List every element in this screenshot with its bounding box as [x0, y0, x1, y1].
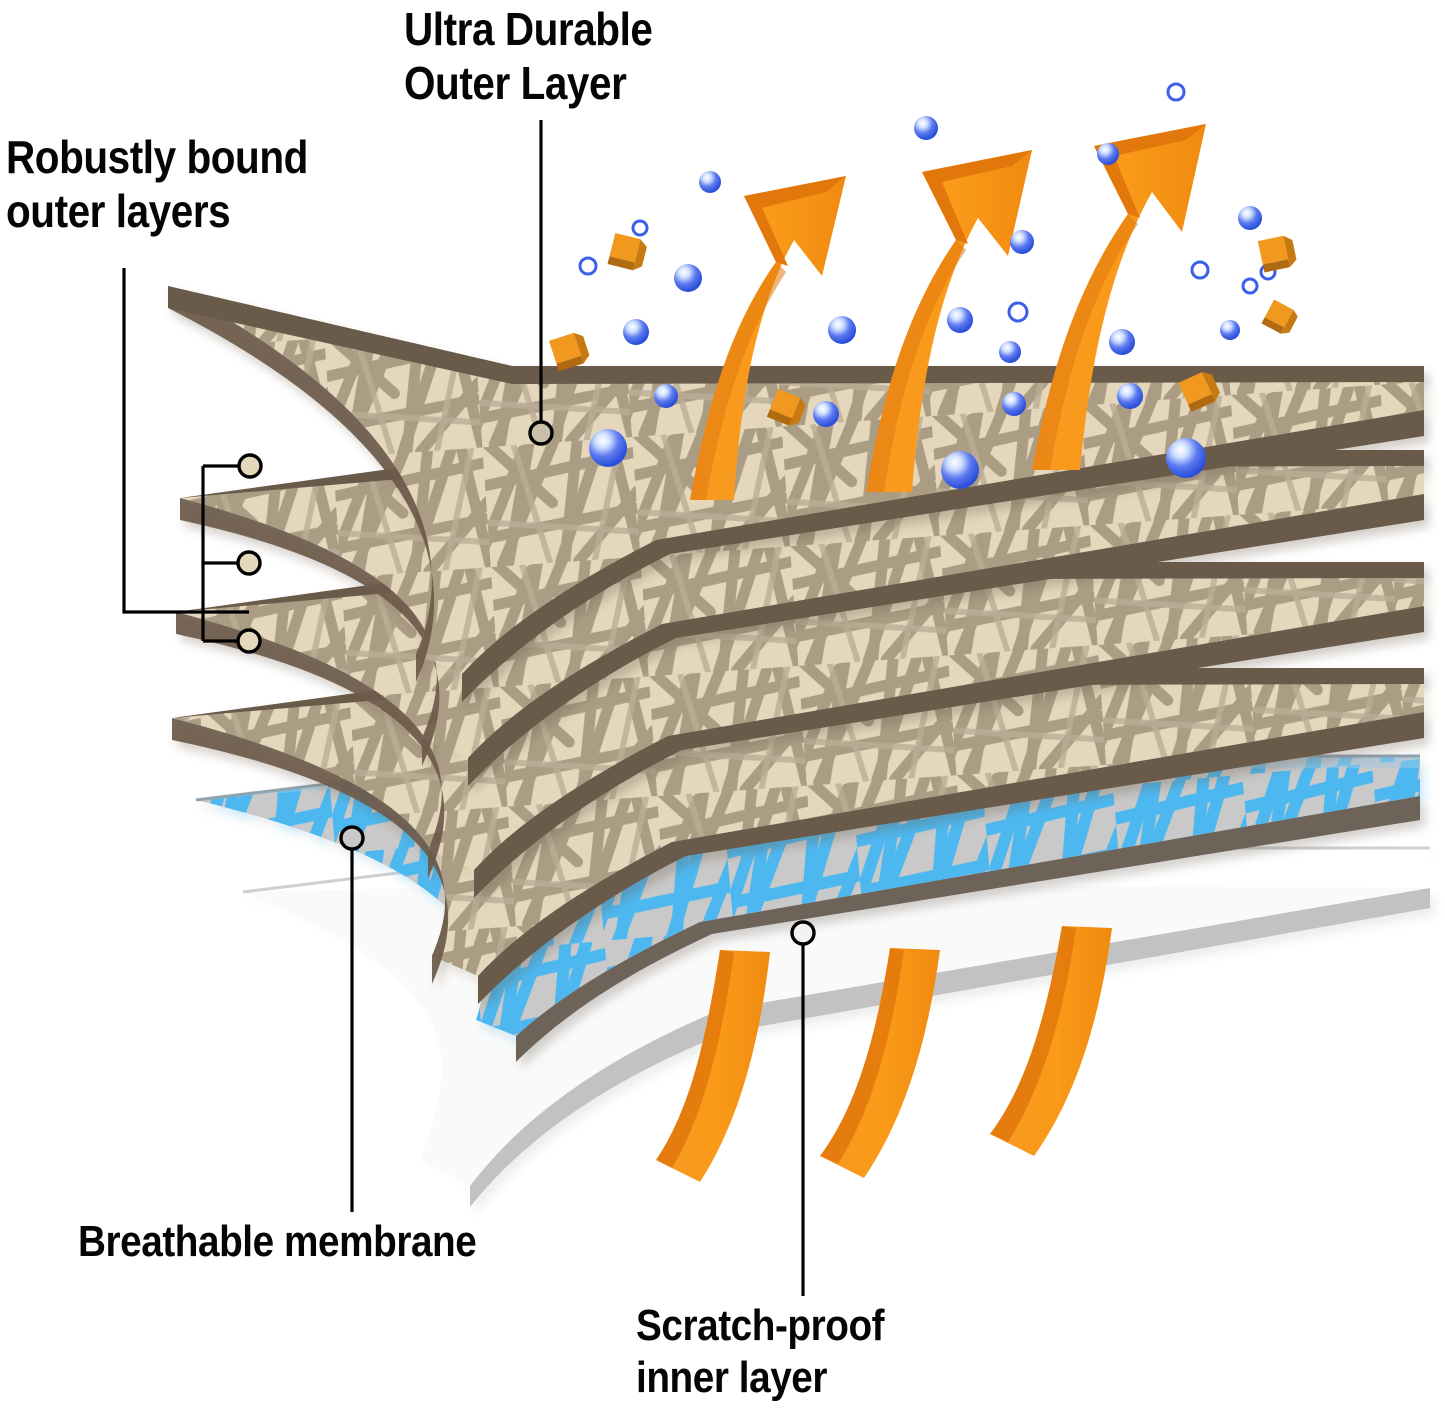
marker-robust-1 — [239, 455, 261, 477]
marker-scratch — [792, 922, 814, 944]
label-ultra-durable-outer-layer: Ultra Durable Outer Layer — [404, 2, 774, 111]
label-robustly-bound-outer-layers: Robustly bound outer layers — [6, 130, 384, 239]
marker-robust-2 — [238, 552, 260, 574]
label-breathable-membrane: Breathable membrane — [78, 1216, 694, 1268]
label-scratch-proof-inner-layer: Scratch-proof inner layer — [636, 1300, 1058, 1404]
marker-membrane — [341, 827, 363, 849]
diagram-canvas: Ultra Durable Outer Layer Robustly bound… — [0, 0, 1445, 1410]
marker-ultra-durable — [530, 422, 552, 444]
marker-robust-3 — [238, 630, 260, 652]
